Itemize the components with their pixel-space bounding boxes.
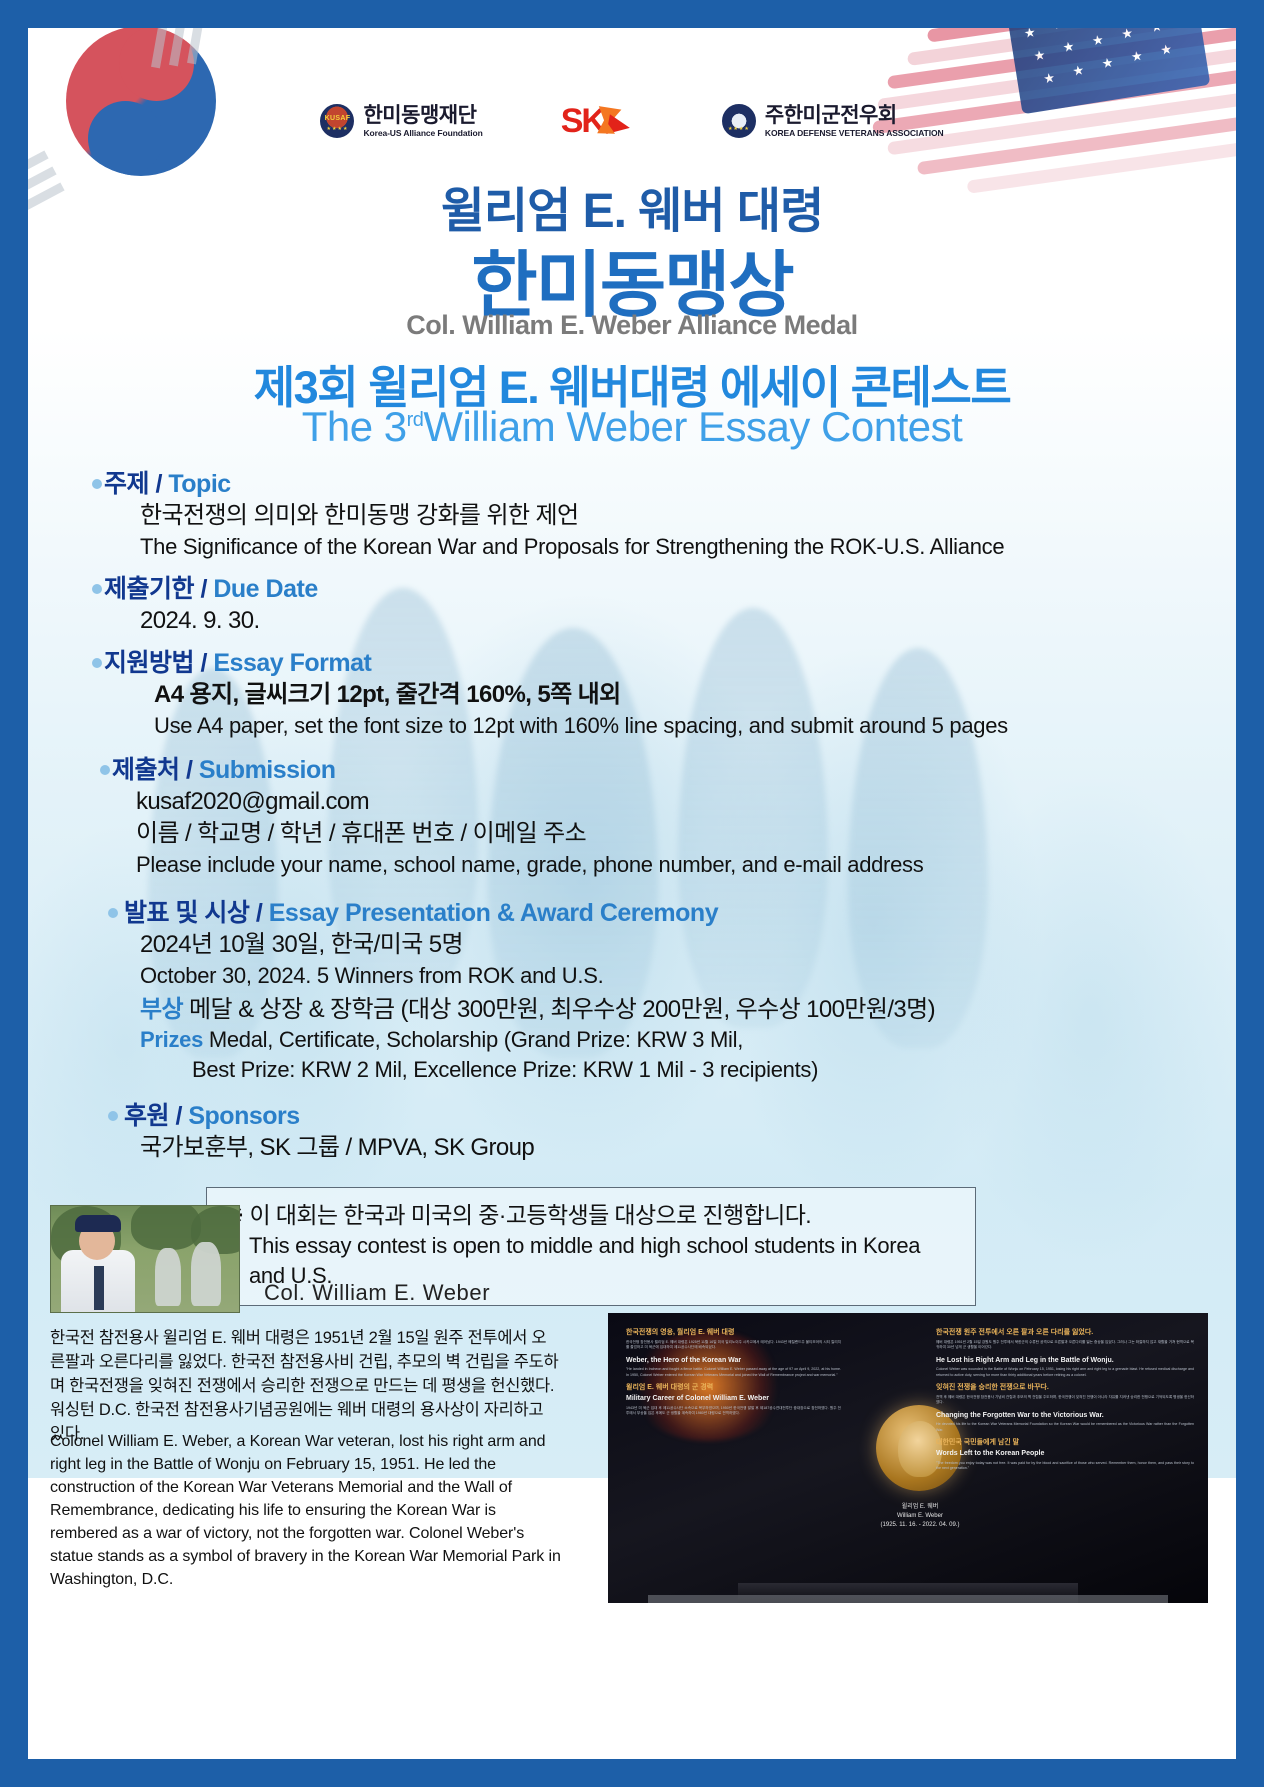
plaque-right-sub1-en: Changing the Forgotten War to the Victor… bbox=[936, 1412, 1194, 1421]
section-topic-heading-en: Topic bbox=[168, 470, 230, 498]
ceremony-prize-en-line2: Best Prize: KRW 2 Mil, Excellence Prize:… bbox=[140, 1055, 1236, 1084]
submission-fields-ko: 이름 / 학교명 / 학년 / 휴대폰 번호 / 이메일 주소 bbox=[136, 818, 1236, 850]
section-due-date-heading-ko: 제출기한 bbox=[104, 575, 194, 603]
plaque-left-sub-ko: 윌리엄 E. 웨버 대령의 군 경력 bbox=[626, 1384, 841, 1393]
plaque-pedestal bbox=[648, 1595, 1168, 1603]
kdva-emblem-icon: ★★★★ bbox=[722, 104, 756, 138]
section-essay-format-heading-ko: 지원방법 bbox=[104, 649, 194, 677]
plaque-right-sub1-ko: 잊혀진 전쟁을 승리한 전쟁으로 바꾸다. bbox=[936, 1384, 1194, 1393]
section-due-date-heading: 제출기한 / Due Date bbox=[104, 573, 1236, 605]
topic-en: The Significance of the Korean War and P… bbox=[140, 532, 1236, 561]
section-ceremony-heading-ko: 발표 및 시상 bbox=[124, 899, 249, 927]
contest-details: 주제 / Topic 한국전쟁의 의미와 한미동맹 강화를 위한 제언 The … bbox=[28, 468, 1236, 1306]
plaque-right-body-4: He devoted his life to the Korean War Ve… bbox=[936, 1422, 1194, 1433]
ceremony-date-ko: 2024년 10월 30일, 한국/미국 5명 bbox=[140, 929, 1236, 961]
plaque-right-head-en: He Lost his Right Arm and Leg in the Bat… bbox=[936, 1357, 1194, 1366]
plaque-left-sub-en: Military Career of Colonel William E. We… bbox=[626, 1395, 841, 1404]
prize-label-en: Prizes bbox=[140, 1027, 203, 1052]
sponsors-value: 국가보훈부, SK 그룹 / MPVA, SK Group bbox=[140, 1132, 1236, 1164]
sk-butterfly-icon bbox=[598, 102, 644, 140]
memorial-plaque-photo: 한국전쟁의 영웅, 월리엄 E. 웨버 대령 한국전쟁 참전용사 윌리엄 E. … bbox=[608, 1313, 1208, 1603]
prize-detail-en1: Medal, Certificate, Scholarship (Grand P… bbox=[209, 1027, 743, 1052]
section-submission-heading-ko: 제출처 bbox=[112, 756, 180, 784]
bullet-icon bbox=[92, 658, 102, 668]
plaque-right-panel: 한국전쟁 원주 전투에서 오른 팔과 오른 다리를 잃었다. 웨버 대령은 19… bbox=[936, 1329, 1194, 1561]
weber-portrait-photo bbox=[50, 1205, 240, 1313]
section-due-date: 제출기한 / Due Date 2024. 9. 30. bbox=[28, 573, 1236, 637]
logo-kusaf: KUSAF ★★★★ 한미동맹재단 Korea-US Alliance Foun… bbox=[320, 104, 482, 138]
section-ceremony: 발표 및 시상 / Essay Presentation & Award Cer… bbox=[28, 897, 1236, 1084]
bullet-icon bbox=[108, 908, 118, 918]
section-ceremony-heading-sep: / bbox=[249, 899, 268, 927]
ceremony-prize-en-line1: Prizes Medal, Certificate, Scholarship (… bbox=[140, 1025, 1236, 1054]
ceremony-date-en: October 30, 2024. 5 Winners from ROK and… bbox=[140, 961, 1236, 990]
bullet-icon bbox=[92, 584, 102, 594]
section-essay-format-heading: 지원방법 / Essay Format bbox=[104, 647, 1236, 679]
title-contest-en-post: William Weber Essay Contest bbox=[423, 403, 962, 450]
logo-kusaf-en: Korea-US Alliance Foundation bbox=[363, 129, 482, 138]
poster-canvas: ★ ★ ★ ★ ★ ★ ★ ★ ★ ★ ★ ★ ★ ★ ★ KUSAF ★★★★ bbox=[28, 28, 1236, 1759]
due-date-value: 2024. 9. 30. bbox=[140, 605, 1236, 637]
section-topic: 주제 / Topic 한국전쟁의 의미와 한미동맹 강화를 위한 제언 The … bbox=[28, 468, 1236, 561]
section-topic-heading-ko: 주제 bbox=[104, 470, 149, 498]
section-essay-format-heading-sep: / bbox=[194, 649, 213, 677]
section-due-date-heading-sep: / bbox=[194, 575, 213, 603]
section-sponsors: 후원 / Sponsors 국가보훈부, SK 그룹 / MPVA, SK Gr… bbox=[28, 1100, 1236, 1164]
logo-kdva: ★★★★ 주한미군전우회 KOREA DEFENSE VETERANS ASSO… bbox=[722, 104, 944, 138]
sponsor-logos-row: KUSAF ★★★★ 한미동맹재단 Korea-US Alliance Foun… bbox=[28, 86, 1236, 156]
section-ceremony-heading-en: Essay Presentation & Award Ceremony bbox=[269, 899, 718, 927]
submission-email[interactable]: kusaf2020@gmail.com bbox=[136, 786, 1236, 818]
plaque-right-sub2-en: Words Left to the Korean People bbox=[936, 1450, 1194, 1459]
section-sponsors-heading-en: Sponsors bbox=[188, 1102, 299, 1130]
plaque-left-head-ko: 한국전쟁의 영웅, 월리엄 E. 웨버 대령 bbox=[626, 1329, 841, 1338]
section-essay-format-heading-en: Essay Format bbox=[213, 649, 371, 677]
section-topic-heading-sep: / bbox=[149, 470, 168, 498]
logo-kusaf-ko: 한미동맹재단 bbox=[363, 105, 482, 126]
section-ceremony-heading: 발표 및 시상 / Essay Presentation & Award Cer… bbox=[124, 897, 1236, 929]
title-ordinal-suffix: rd bbox=[407, 409, 424, 431]
section-submission-heading-sep: / bbox=[180, 756, 199, 784]
bullet-icon bbox=[108, 1111, 118, 1121]
plaque-right-body-3: 전역 후 웨버 대령은 한국전쟁 참전용사 기념비 건립과 추모의 벽 건립을 … bbox=[936, 1395, 1194, 1406]
weber-name-caption: Col. William E. Weber bbox=[264, 1280, 490, 1306]
bullet-icon bbox=[100, 765, 110, 775]
title-contest-en: The 3rdWilliam Weber Essay Contest bbox=[28, 403, 1236, 451]
weber-bio-en: Colonel William E. Weber, a Korean War v… bbox=[50, 1430, 565, 1591]
essay-format-ko: A4 용지, 글씨크기 12pt, 줄간격 160%, 5쪽 내외 bbox=[154, 679, 1236, 711]
ceremony-prize-ko: 부상 메달 & 상장 & 장학금 (대상 300만원, 최우수상 200만원, … bbox=[140, 994, 1236, 1026]
section-essay-format: 지원방법 / Essay Format A4 용지, 글씨크기 12pt, 줄간… bbox=[28, 647, 1236, 740]
bullet-icon bbox=[92, 479, 102, 489]
section-topic-heading: 주제 / Topic bbox=[104, 468, 1236, 500]
section-sponsors-heading-ko: 후원 bbox=[124, 1102, 169, 1130]
section-submission: 제출처 / Submission kusaf2020@gmail.com 이름 … bbox=[28, 754, 1236, 879]
kdva-emblem-stars-icon: ★★★★ bbox=[724, 126, 754, 132]
plaque-right-body-1: 웨버 대령은 1951년 2월 15일 강원도 원주 전투에서 북한군의 수류탄… bbox=[936, 1340, 1194, 1351]
logo-kdva-ko: 주한미군전우회 bbox=[765, 105, 944, 126]
plaque-right-body-2: Colonel Weber was wounded in the Battle … bbox=[936, 1367, 1194, 1378]
plaque-left-body-3: 1943년 미 육군 입대 후 제11공수사단 소속으로 복무하였으며, 195… bbox=[626, 1406, 841, 1417]
plaque-left-body-2: "He landed in Incheon and fought a fierc… bbox=[626, 1367, 841, 1378]
title-line-medal-en: Col. William E. Weber Alliance Medal bbox=[28, 310, 1236, 341]
section-sponsors-heading-sep: / bbox=[169, 1102, 188, 1130]
weber-bio-ko: 한국전 참전용사 윌리엄 E. 웨버 대령은 1951년 2월 15일 원주 전… bbox=[50, 1326, 560, 1446]
section-due-date-heading-en: Due Date bbox=[213, 575, 317, 603]
logo-kdva-en: KOREA DEFENSE VETERANS ASSOCIATION bbox=[765, 129, 944, 138]
plaque-left-panel: 한국전쟁의 영웅, 월리엄 E. 웨버 대령 한국전쟁 참전용사 윌리엄 E. … bbox=[626, 1329, 841, 1561]
kusaf-emblem-mark: KUSAF bbox=[322, 115, 352, 122]
plaque-right-body-5: "The freedom you enjoy today was not fre… bbox=[936, 1461, 1194, 1472]
plaque-left-head-en: Weber, the Hero of the Korean War bbox=[626, 1357, 841, 1366]
prize-detail-ko: 메달 & 상장 & 장학금 (대상 300만원, 최우수상 200만원, 우수상… bbox=[189, 996, 935, 1023]
section-sponsors-heading: 후원 / Sponsors bbox=[124, 1100, 1236, 1132]
notice-ko: ※ 이 대회는 한국과 미국의 중·고등학생들 대상으로 진행합니다. bbox=[225, 1200, 961, 1231]
section-submission-heading-en: Submission bbox=[199, 756, 336, 784]
emblem-stars-icon: ★★★★ bbox=[322, 126, 352, 132]
plaque-right-sub2-ko: 대한민국 국민들에게 남긴 말 bbox=[936, 1439, 1194, 1448]
title-contest-en-pre: The 3 bbox=[302, 403, 407, 450]
kusaf-emblem-icon: KUSAF ★★★★ bbox=[320, 104, 354, 138]
section-submission-heading: 제출처 / Submission bbox=[112, 754, 1236, 786]
plaque-right-head-ko: 한국전쟁 원주 전투에서 오른 팔과 오른 다리를 잃었다. bbox=[936, 1329, 1194, 1338]
essay-format-en: Use A4 paper, set the font size to 12pt … bbox=[154, 711, 1236, 740]
submission-fields-en: Please include your name, school name, g… bbox=[136, 850, 1236, 879]
topic-ko: 한국전쟁의 의미와 한미동맹 강화를 위한 제언 bbox=[140, 500, 1236, 532]
plaque-left-body-1: 한국전쟁 참전용사 윌리엄 E. 웨버 대령은 1925년 11월 16일 미국… bbox=[626, 1340, 841, 1351]
logo-sk: SK bbox=[561, 102, 644, 141]
prize-label-ko: 부상 bbox=[140, 996, 183, 1023]
